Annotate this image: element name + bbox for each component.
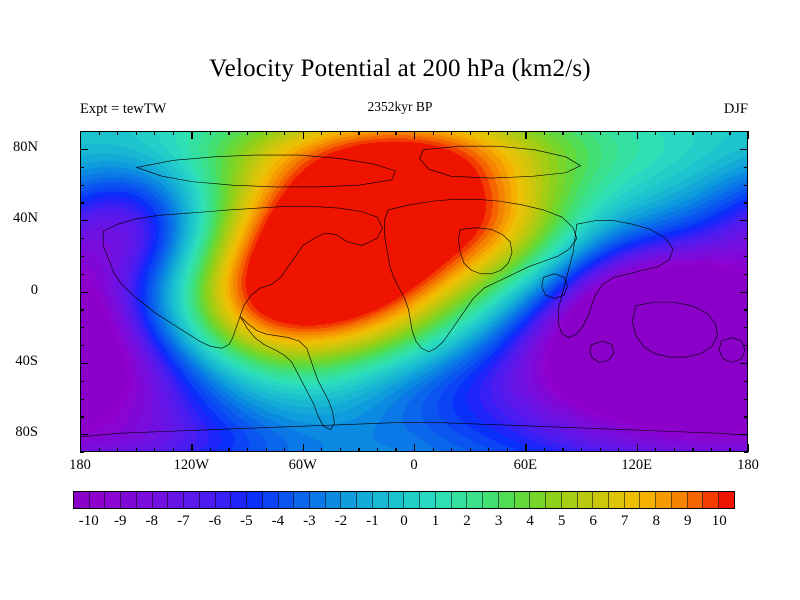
axis-tick bbox=[740, 149, 748, 150]
axis-tick bbox=[321, 448, 322, 452]
axis-tick bbox=[340, 448, 341, 452]
axis-tick bbox=[80, 292, 88, 293]
axis-tick bbox=[80, 220, 88, 221]
colorbar-cell bbox=[467, 492, 483, 508]
x-axis-tick-label: 0 bbox=[369, 457, 459, 474]
axis-tick bbox=[507, 131, 508, 135]
axis-tick bbox=[80, 452, 84, 453]
colorbar-tick-label: 10 bbox=[689, 513, 749, 530]
axis-tick bbox=[729, 448, 730, 452]
axis-tick bbox=[507, 448, 508, 452]
axis-tick bbox=[581, 131, 582, 135]
axis-tick bbox=[80, 185, 84, 186]
axis-tick bbox=[228, 131, 229, 135]
axis-tick bbox=[80, 309, 84, 310]
axis-tick bbox=[266, 448, 267, 452]
colorbar-cell bbox=[231, 492, 247, 508]
axis-tick bbox=[210, 131, 211, 135]
axis-tick bbox=[80, 434, 88, 435]
axis-tick bbox=[744, 327, 748, 328]
axis-tick bbox=[618, 131, 619, 135]
colorbar-cell bbox=[404, 492, 420, 508]
colorbar-cell bbox=[625, 492, 641, 508]
colorbar-cell bbox=[90, 492, 106, 508]
axis-tick bbox=[744, 202, 748, 203]
axis-tick bbox=[637, 444, 638, 452]
axis-tick bbox=[173, 448, 174, 452]
axis-tick bbox=[80, 363, 88, 364]
axis-tick bbox=[433, 131, 434, 135]
colorbar-cell bbox=[74, 492, 90, 508]
axis-tick bbox=[744, 416, 748, 417]
colorbar-cell bbox=[373, 492, 389, 508]
axis-tick bbox=[210, 448, 211, 452]
colorbar-cell bbox=[562, 492, 578, 508]
axis-tick bbox=[744, 185, 748, 186]
axis-tick bbox=[303, 131, 304, 139]
colorbar-cell bbox=[452, 492, 468, 508]
axis-tick bbox=[744, 274, 748, 275]
y-axis-tick-label: 80S bbox=[0, 424, 38, 441]
axis-tick bbox=[154, 448, 155, 452]
axis-tick bbox=[451, 448, 452, 452]
axis-tick bbox=[414, 131, 415, 139]
colorbar-cell bbox=[719, 492, 734, 508]
colorbar-cell bbox=[483, 492, 499, 508]
coastline-overlay bbox=[81, 132, 747, 451]
colorbar bbox=[73, 491, 735, 509]
axis-tick bbox=[173, 131, 174, 135]
colorbar-cell bbox=[499, 492, 515, 508]
axis-tick bbox=[711, 131, 712, 135]
axis-tick bbox=[674, 131, 675, 135]
colorbar-cell bbox=[184, 492, 200, 508]
axis-tick bbox=[600, 448, 601, 452]
axis-tick bbox=[600, 131, 601, 135]
axis-tick bbox=[154, 131, 155, 135]
axis-tick bbox=[136, 448, 137, 452]
axis-tick bbox=[80, 416, 84, 417]
axis-tick bbox=[744, 399, 748, 400]
axis-tick bbox=[744, 452, 748, 453]
x-axis-tick-label: 60E bbox=[480, 457, 570, 474]
colorbar-cell bbox=[357, 492, 373, 508]
axis-tick bbox=[247, 448, 248, 452]
axis-tick bbox=[748, 444, 749, 452]
colorbar-cell bbox=[578, 492, 594, 508]
axis-tick bbox=[80, 345, 84, 346]
axis-tick bbox=[692, 131, 693, 135]
axis-tick bbox=[433, 448, 434, 452]
axis-tick bbox=[136, 131, 137, 135]
x-axis-tick-label: 120W bbox=[146, 457, 236, 474]
colorbar-cell bbox=[310, 492, 326, 508]
colorbar-cell bbox=[640, 492, 656, 508]
axis-tick bbox=[525, 444, 526, 452]
axis-tick bbox=[740, 363, 748, 364]
axis-tick bbox=[740, 292, 748, 293]
axis-tick bbox=[80, 327, 84, 328]
axis-tick bbox=[744, 256, 748, 257]
colorbar-cell bbox=[389, 492, 405, 508]
axis-tick bbox=[247, 131, 248, 135]
axis-tick bbox=[358, 448, 359, 452]
axis-tick bbox=[562, 131, 563, 135]
axis-tick bbox=[729, 131, 730, 135]
colorbar-cell bbox=[247, 492, 263, 508]
colorbar-cell bbox=[153, 492, 169, 508]
y-axis-tick-label: 0 bbox=[0, 282, 38, 299]
axis-tick bbox=[562, 448, 563, 452]
colorbar-cell bbox=[121, 492, 137, 508]
colorbar-cell bbox=[168, 492, 184, 508]
y-axis-tick-label: 80N bbox=[0, 139, 38, 156]
axis-tick bbox=[99, 448, 100, 452]
colorbar-cell bbox=[609, 492, 625, 508]
colorbar-cell bbox=[656, 492, 672, 508]
axis-tick bbox=[544, 131, 545, 135]
axis-tick bbox=[740, 220, 748, 221]
axis-tick bbox=[303, 444, 304, 452]
colorbar-cell bbox=[200, 492, 216, 508]
x-axis-tick-label: 60W bbox=[258, 457, 348, 474]
colorbar-cell bbox=[530, 492, 546, 508]
colorbar-cell bbox=[263, 492, 279, 508]
page-title: Velocity Potential at 200 hPa (km2/s) bbox=[0, 55, 800, 83]
colorbar-cell bbox=[546, 492, 562, 508]
season-label: DJF bbox=[0, 101, 748, 118]
axis-tick bbox=[377, 131, 378, 135]
axis-tick bbox=[80, 202, 84, 203]
axis-tick bbox=[451, 131, 452, 135]
colorbar-cell bbox=[216, 492, 232, 508]
axis-tick bbox=[80, 149, 88, 150]
colorbar-cell bbox=[703, 492, 719, 508]
axis-tick bbox=[655, 131, 656, 135]
axis-tick bbox=[284, 448, 285, 452]
axis-tick bbox=[80, 256, 84, 257]
axis-tick bbox=[692, 448, 693, 452]
y-axis-tick-label: 40N bbox=[0, 210, 38, 227]
axis-tick bbox=[80, 381, 84, 382]
colorbar-cell bbox=[137, 492, 153, 508]
axis-tick bbox=[358, 131, 359, 135]
colorbar-cell bbox=[294, 492, 310, 508]
axis-tick bbox=[395, 131, 396, 135]
axis-tick bbox=[744, 345, 748, 346]
axis-tick bbox=[744, 167, 748, 168]
axis-tick bbox=[80, 167, 84, 168]
map-plot-panel bbox=[80, 131, 748, 452]
axis-tick bbox=[266, 131, 267, 135]
y-axis-tick-label: 40S bbox=[0, 353, 38, 370]
axis-tick bbox=[740, 434, 748, 435]
colorbar-cell bbox=[105, 492, 121, 508]
axis-tick bbox=[80, 444, 81, 452]
axis-tick bbox=[748, 131, 749, 139]
colorbar-cell bbox=[593, 492, 609, 508]
axis-tick bbox=[655, 448, 656, 452]
colorbar-cell bbox=[420, 492, 436, 508]
axis-tick bbox=[191, 131, 192, 139]
colorbar-cell bbox=[672, 492, 688, 508]
x-axis-tick-label: 180 bbox=[703, 457, 793, 474]
colorbar-cell bbox=[515, 492, 531, 508]
axis-tick bbox=[470, 448, 471, 452]
axis-tick bbox=[377, 448, 378, 452]
axis-tick bbox=[744, 381, 748, 382]
axis-tick bbox=[488, 131, 489, 135]
axis-tick bbox=[744, 309, 748, 310]
axis-tick bbox=[340, 131, 341, 135]
colorbar-cell bbox=[341, 492, 357, 508]
axis-tick bbox=[117, 448, 118, 452]
axis-tick bbox=[80, 131, 81, 139]
figure-canvas: Velocity Potential at 200 hPa (km2/s) Ex… bbox=[0, 0, 800, 600]
colorbar-cell bbox=[436, 492, 452, 508]
axis-tick bbox=[618, 448, 619, 452]
x-axis-tick-label: 180 bbox=[35, 457, 125, 474]
axis-tick bbox=[99, 131, 100, 135]
axis-tick bbox=[80, 238, 84, 239]
axis-tick bbox=[470, 131, 471, 135]
colorbar-cell bbox=[279, 492, 295, 508]
axis-tick bbox=[80, 274, 84, 275]
colorbar-cell bbox=[688, 492, 704, 508]
axis-tick bbox=[191, 444, 192, 452]
axis-tick bbox=[674, 448, 675, 452]
x-axis-tick-label: 120E bbox=[592, 457, 682, 474]
axis-tick bbox=[80, 399, 84, 400]
axis-tick bbox=[395, 448, 396, 452]
axis-tick bbox=[80, 131, 84, 132]
axis-tick bbox=[321, 131, 322, 135]
axis-tick bbox=[117, 131, 118, 135]
colorbar-cell bbox=[326, 492, 342, 508]
axis-tick bbox=[525, 131, 526, 139]
axis-tick bbox=[488, 448, 489, 452]
axis-tick bbox=[228, 448, 229, 452]
axis-tick bbox=[744, 131, 748, 132]
axis-tick bbox=[414, 444, 415, 452]
axis-tick bbox=[637, 131, 638, 139]
axis-tick bbox=[581, 448, 582, 452]
axis-tick bbox=[744, 238, 748, 239]
axis-tick bbox=[544, 448, 545, 452]
axis-tick bbox=[711, 448, 712, 452]
axis-tick bbox=[284, 131, 285, 135]
